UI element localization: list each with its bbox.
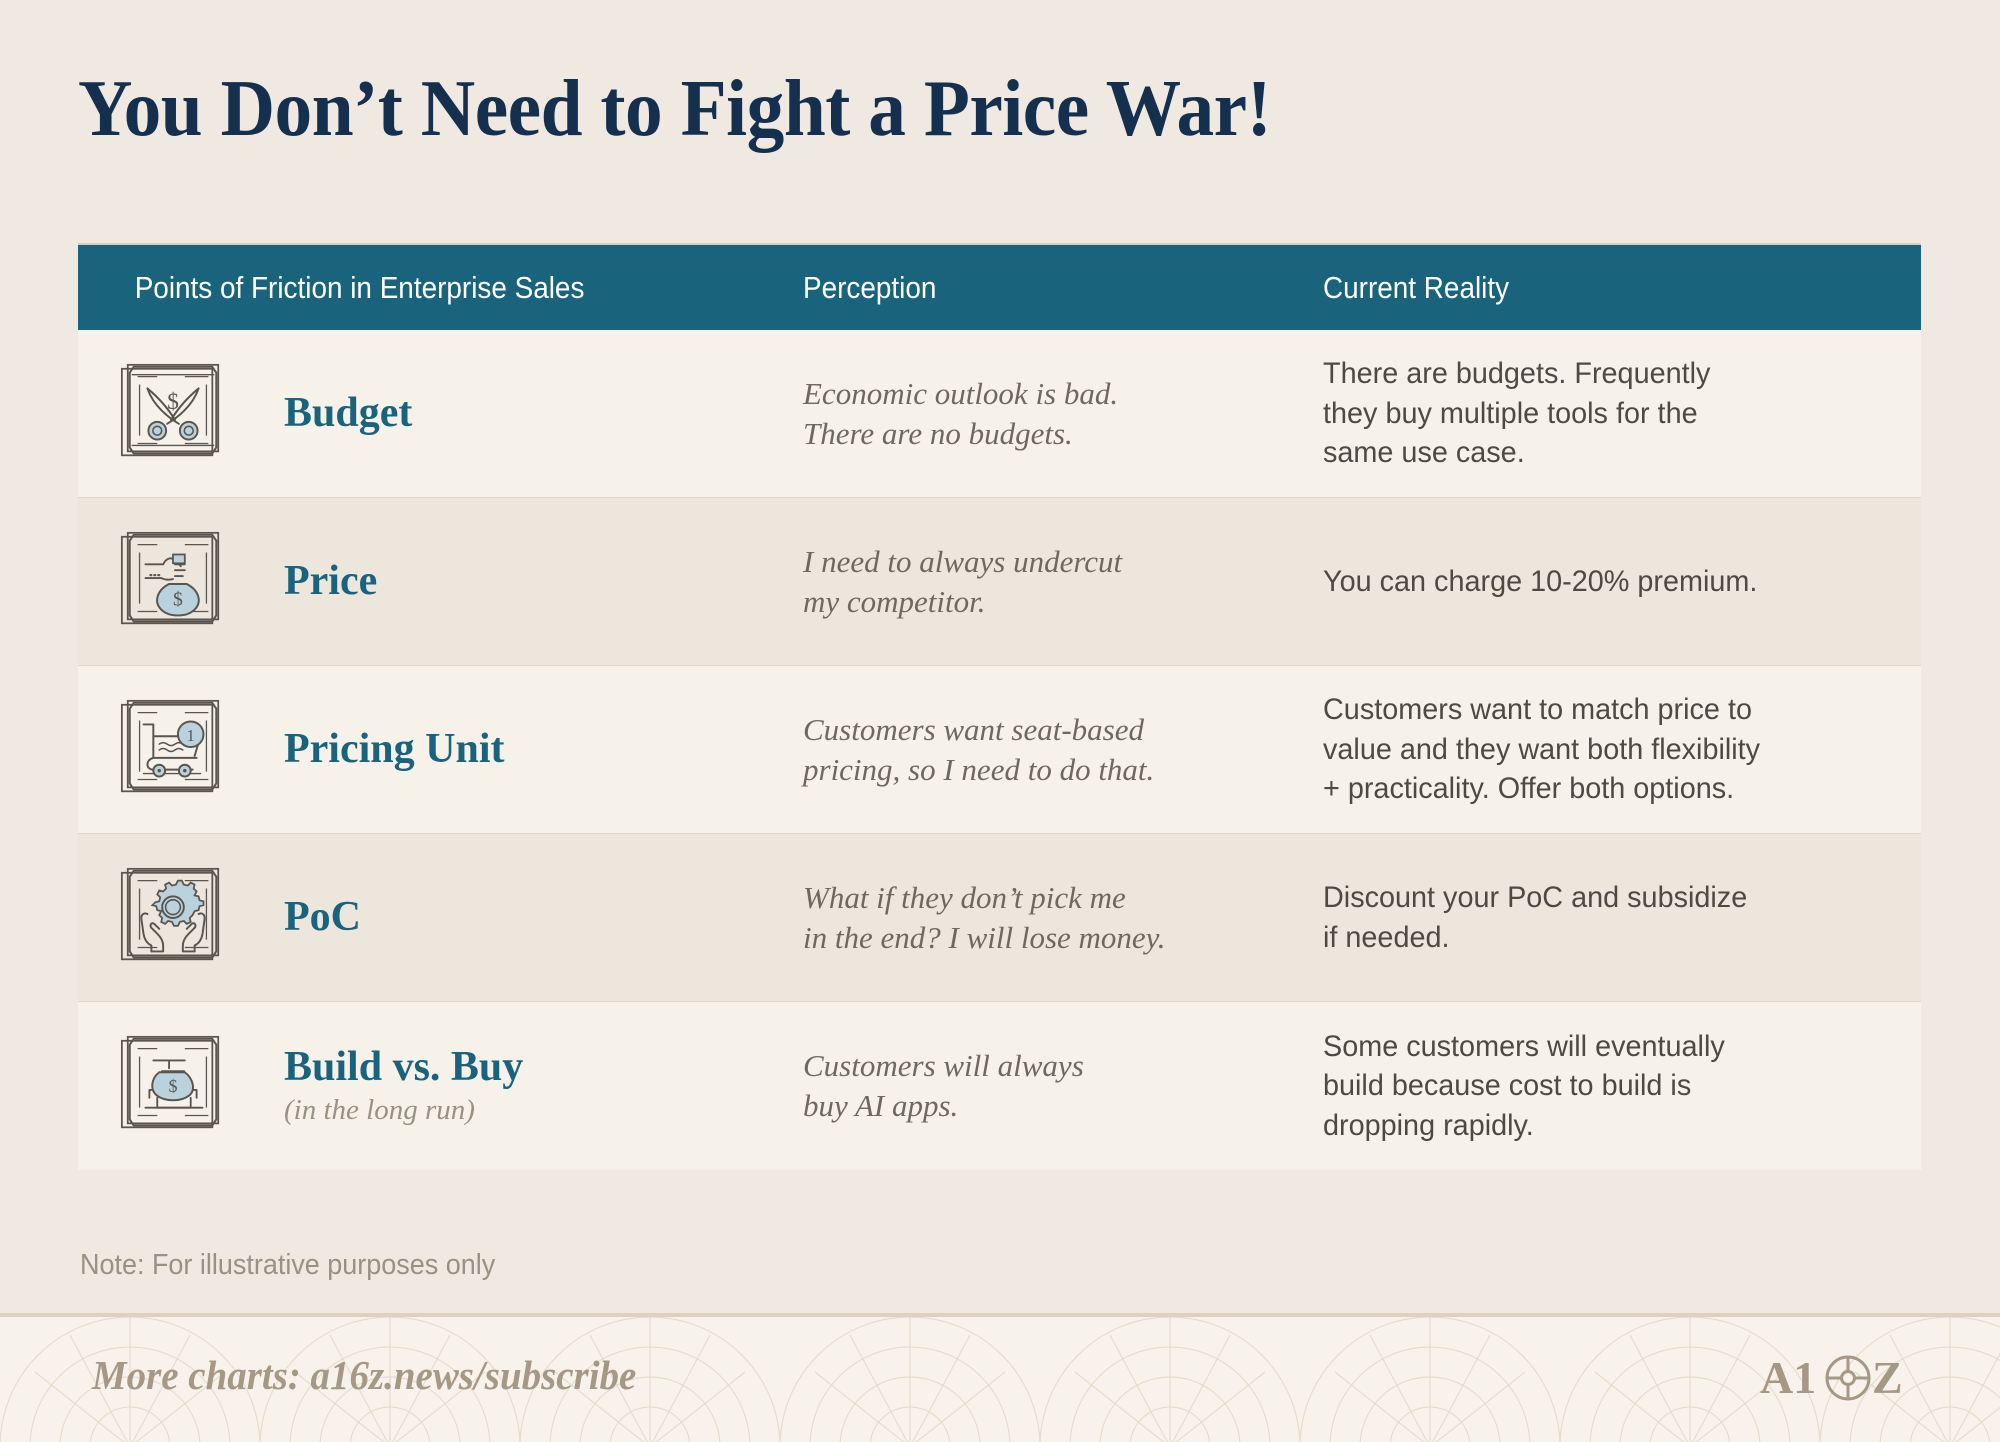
- row-label: PoC: [284, 895, 361, 939]
- hands-holding-gear-icon: [114, 859, 232, 977]
- reality-line: You can charge 10-20% premium.: [1323, 562, 1897, 602]
- chart-note: Note: For illustrative purposes only: [80, 1249, 495, 1282]
- column-header-friction: Points of Friction in Enterprise Sales: [78, 270, 731, 306]
- perception-cell: What if they don’t pick me in the end? I…: [803, 878, 1323, 957]
- perception-cell: Economic outlook is bad. There are no bu…: [803, 374, 1323, 453]
- perception-line: Customers will always: [803, 1046, 1323, 1086]
- table-row: 1 Pricing Unit Customers want seat-based…: [78, 666, 1921, 834]
- perception-line: my competitor.: [803, 582, 1323, 622]
- svg-text:Z: Z: [1872, 1352, 1903, 1403]
- reality-line: they buy multiple tools for the: [1323, 394, 1897, 434]
- table-header-row: Points of Friction in Enterprise Sales P…: [78, 245, 1921, 330]
- column-header-perception: Perception: [803, 270, 1271, 306]
- reality-cell: There are budgets. Frequently they buy m…: [1323, 354, 1897, 473]
- shopping-cart-one-icon: 1: [114, 691, 232, 809]
- reality-line: same use case.: [1323, 433, 1897, 473]
- table-row: PoC What if they don’t pick me in the en…: [78, 834, 1921, 1002]
- money-bag-machine-icon: $: [114, 1027, 232, 1145]
- row-label: Pricing Unit: [284, 727, 504, 771]
- reality-cell: Customers want to match price to value a…: [1323, 690, 1897, 809]
- table-row: $ Budget Economic outlook is bad. There …: [78, 330, 1921, 498]
- friction-cell: $ Budget: [78, 355, 803, 473]
- table-row: $ Price I need to always undercut my com…: [78, 498, 1921, 666]
- svg-text:$: $: [167, 389, 179, 415]
- reality-line: Customers want to match price to: [1323, 690, 1897, 730]
- perception-line: Economic outlook is bad.: [803, 374, 1323, 414]
- perception-line: What if they don’t pick me: [803, 878, 1323, 918]
- reality-cell: Some customers will eventually build bec…: [1323, 1027, 1897, 1146]
- reality-line: if needed.: [1323, 918, 1897, 958]
- page-title: You Don’t Need to Fight a Price War!: [78, 68, 1271, 149]
- label-group: Budget: [232, 391, 412, 435]
- perception-line: There are no budgets.: [803, 414, 1323, 454]
- reality-line: Some customers will eventually: [1323, 1027, 1897, 1067]
- svg-text:A1: A1: [1760, 1352, 1816, 1403]
- reality-cell: You can charge 10-20% premium.: [1323, 562, 1897, 602]
- reality-line: dropping rapidly.: [1323, 1106, 1897, 1146]
- svg-text:$: $: [169, 1076, 178, 1096]
- reality-line: There are budgets. Frequently: [1323, 354, 1897, 394]
- scissors-cutting-dollar-icon: $: [114, 355, 232, 473]
- friction-cell: $ Price: [78, 523, 803, 641]
- perception-line: I need to always undercut: [803, 542, 1323, 582]
- reality-line: value and they want both flexibility: [1323, 730, 1897, 770]
- row-label: Budget: [284, 391, 412, 435]
- svg-text:1: 1: [187, 726, 195, 745]
- reality-cell: Discount your PoC and subsidize if neede…: [1323, 878, 1897, 957]
- perception-cell: I need to always undercut my competitor.: [803, 542, 1323, 621]
- friction-cell: $ Build vs. Buy (in the long run): [78, 1027, 803, 1145]
- label-group: PoC: [232, 895, 361, 939]
- perception-cell: Customers will always buy AI apps.: [803, 1046, 1323, 1125]
- perception-line: buy AI apps.: [803, 1086, 1323, 1126]
- reality-line: build because cost to build is: [1323, 1066, 1897, 1106]
- table-row: $ Build vs. Buy (in the long run) Custom…: [78, 1002, 1921, 1170]
- hand-holding-money-bag-icon: $: [114, 523, 232, 641]
- row-label: Price: [284, 559, 377, 603]
- perception-cell: Customers want seat-based pricing, so I …: [803, 710, 1323, 789]
- friction-cell: PoC: [78, 859, 803, 977]
- perception-line: in the end? I will lose money.: [803, 918, 1323, 958]
- row-label: Build vs. Buy: [284, 1045, 523, 1089]
- label-group: Pricing Unit: [232, 727, 504, 771]
- label-group: Price: [232, 559, 377, 603]
- perception-line: Customers want seat-based: [803, 710, 1323, 750]
- reality-line: Discount your PoC and subsidize: [1323, 878, 1897, 918]
- reality-line: + practicality. Offer both options.: [1323, 769, 1897, 809]
- friction-cell: 1 Pricing Unit: [78, 691, 803, 809]
- footer-bar: More charts: a16z.news/subscribe A1 Z: [0, 1313, 2000, 1442]
- friction-table: Points of Friction in Enterprise Sales P…: [78, 243, 1921, 1170]
- a16z-logo: A1 Z: [1760, 1343, 1930, 1417]
- row-sublabel: (in the long run): [284, 1094, 523, 1127]
- label-group: Build vs. Buy (in the long run): [232, 1045, 523, 1126]
- svg-text:$: $: [173, 588, 183, 610]
- perception-line: pricing, so I need to do that.: [803, 750, 1323, 790]
- footer-subscribe-text[interactable]: More charts: a16z.news/subscribe: [92, 1351, 636, 1399]
- column-header-current-reality: Current Reality: [1323, 270, 1861, 306]
- infographic-canvas: You Don’t Need to Fight a Price War! Poi…: [0, 0, 2000, 1442]
